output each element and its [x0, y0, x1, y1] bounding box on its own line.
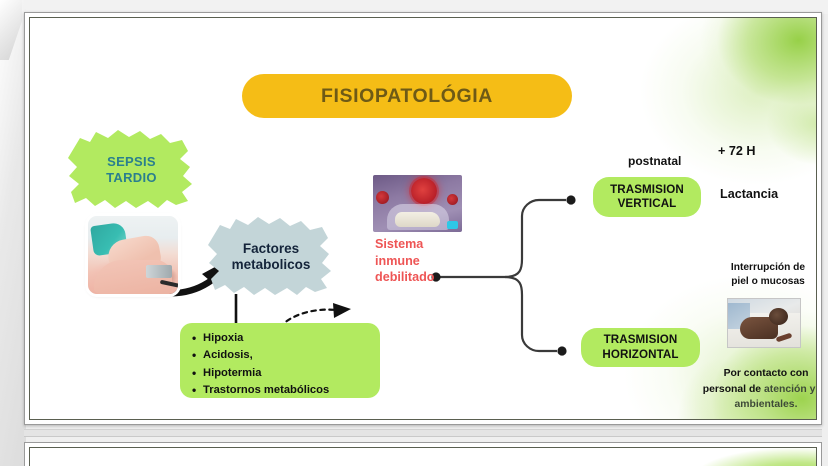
sistema-line-1: Sistema [375, 236, 471, 253]
interrupcion-line-1: Interrupción de [710, 261, 817, 275]
viewer-left-chrome [0, 0, 26, 466]
slide-page[interactable]: FISIOPATOLÓGIA SEPSIS TARDIO [24, 12, 822, 425]
virus-large-icon [411, 178, 437, 204]
slide-viewer: FISIOPATOLÓGIA SEPSIS TARDIO [0, 0, 828, 466]
node-factores-metabolicos[interactable]: Factores metabolicos [207, 214, 335, 300]
bullet-list: Hipoxia Acidosis, Hipotermia Trastornos … [192, 330, 374, 399]
node-trasmision-vertical[interactable]: TRASMISION VERTICAL [593, 177, 701, 217]
newborn-incubator-photo [727, 298, 801, 348]
virus-small-right-icon [447, 194, 458, 205]
page-title-text: FISIOPATOLÓGIA [321, 85, 493, 108]
branch-endpoint-dot-horizontal [557, 346, 566, 355]
list-item: Hipotermia [192, 365, 374, 382]
interrupcion-line-2: piel o mucosas [710, 275, 817, 289]
photo-detail-baby-head [769, 308, 788, 325]
watercolor-wash-icon [696, 448, 816, 466]
list-item: Acidosis, [192, 347, 374, 364]
list-item: Hipoxia [192, 330, 374, 347]
list-item: Trastornos metabólicos [192, 382, 374, 399]
slide-content-area: FISIOPATOLÓGIA SEPSIS TARDIO [29, 17, 817, 420]
sepsis-line-1: SEPSIS [106, 154, 157, 170]
watercolor-wash-top-right-icon [596, 17, 817, 196]
branch-endpoint-dot-vertical [566, 195, 575, 204]
factores-line-2: metabolicos [232, 257, 311, 273]
label-plus-72h: + 72 H [718, 144, 755, 158]
sistema-line-3: debilitado [375, 269, 471, 286]
label-postnatal: postnatal [628, 154, 681, 168]
contacto-line-2a: personal de [703, 384, 764, 395]
next-slide-page[interactable] [24, 442, 822, 466]
page-separator [24, 429, 822, 437]
newborn-care-photo [88, 216, 178, 294]
page-title: FISIOPATOLÓGIA [242, 74, 572, 118]
label-lactancia: Lactancia [720, 187, 778, 201]
metabolic-factors-list[interactable]: Hipoxia Acidosis, Hipotermia Trastornos … [180, 323, 380, 398]
trasmision-vertical-line-2: VERTICAL [610, 197, 684, 211]
trasmision-horizontal-line-2: HORIZONTAL [602, 348, 678, 362]
page-fold-decoration [0, 0, 22, 60]
node-sistema-inmune-debilitado: Sistema inmune debilitado [375, 236, 471, 286]
photo-detail-cuff [146, 265, 172, 278]
next-slide-content-area [29, 447, 817, 466]
node-factores-label: Factores metabolicos [232, 241, 311, 274]
node-sepsis-tardio[interactable]: SEPSIS TARDIO [66, 126, 197, 213]
label-interrupcion-piel-mucosas: Interrupción de piel o mucosas [710, 261, 817, 290]
immune-system-illustration [373, 175, 462, 232]
node-sepsis-tardio-label: SEPSIS TARDIO [106, 154, 157, 186]
sistema-line-2: inmune [375, 253, 471, 270]
dashed-arrow-head-icon [333, 303, 351, 318]
contacto-line-3: ambientales. [675, 397, 817, 413]
virus-small-left-icon [376, 191, 389, 204]
trasmision-horizontal-line-1: TRASMISION [602, 333, 678, 347]
factores-line-1: Factores [232, 241, 311, 257]
illustration-monitor-chip [447, 221, 458, 229]
node-trasmision-horizontal[interactable]: TRASMISION HORIZONTAL [581, 328, 700, 367]
label-por-contacto: Por contacto con personal de atención y … [675, 366, 817, 413]
contacto-line-2: personal de atención y /O [675, 382, 817, 398]
illustration-baby-shape [395, 212, 440, 227]
contacto-line-1: Por contacto con [675, 366, 817, 382]
sepsis-line-2: TARDIO [106, 170, 157, 186]
contacto-line-2b: atención y /O [764, 384, 817, 395]
trasmision-vertical-line-1: TRASMISION [610, 183, 684, 197]
